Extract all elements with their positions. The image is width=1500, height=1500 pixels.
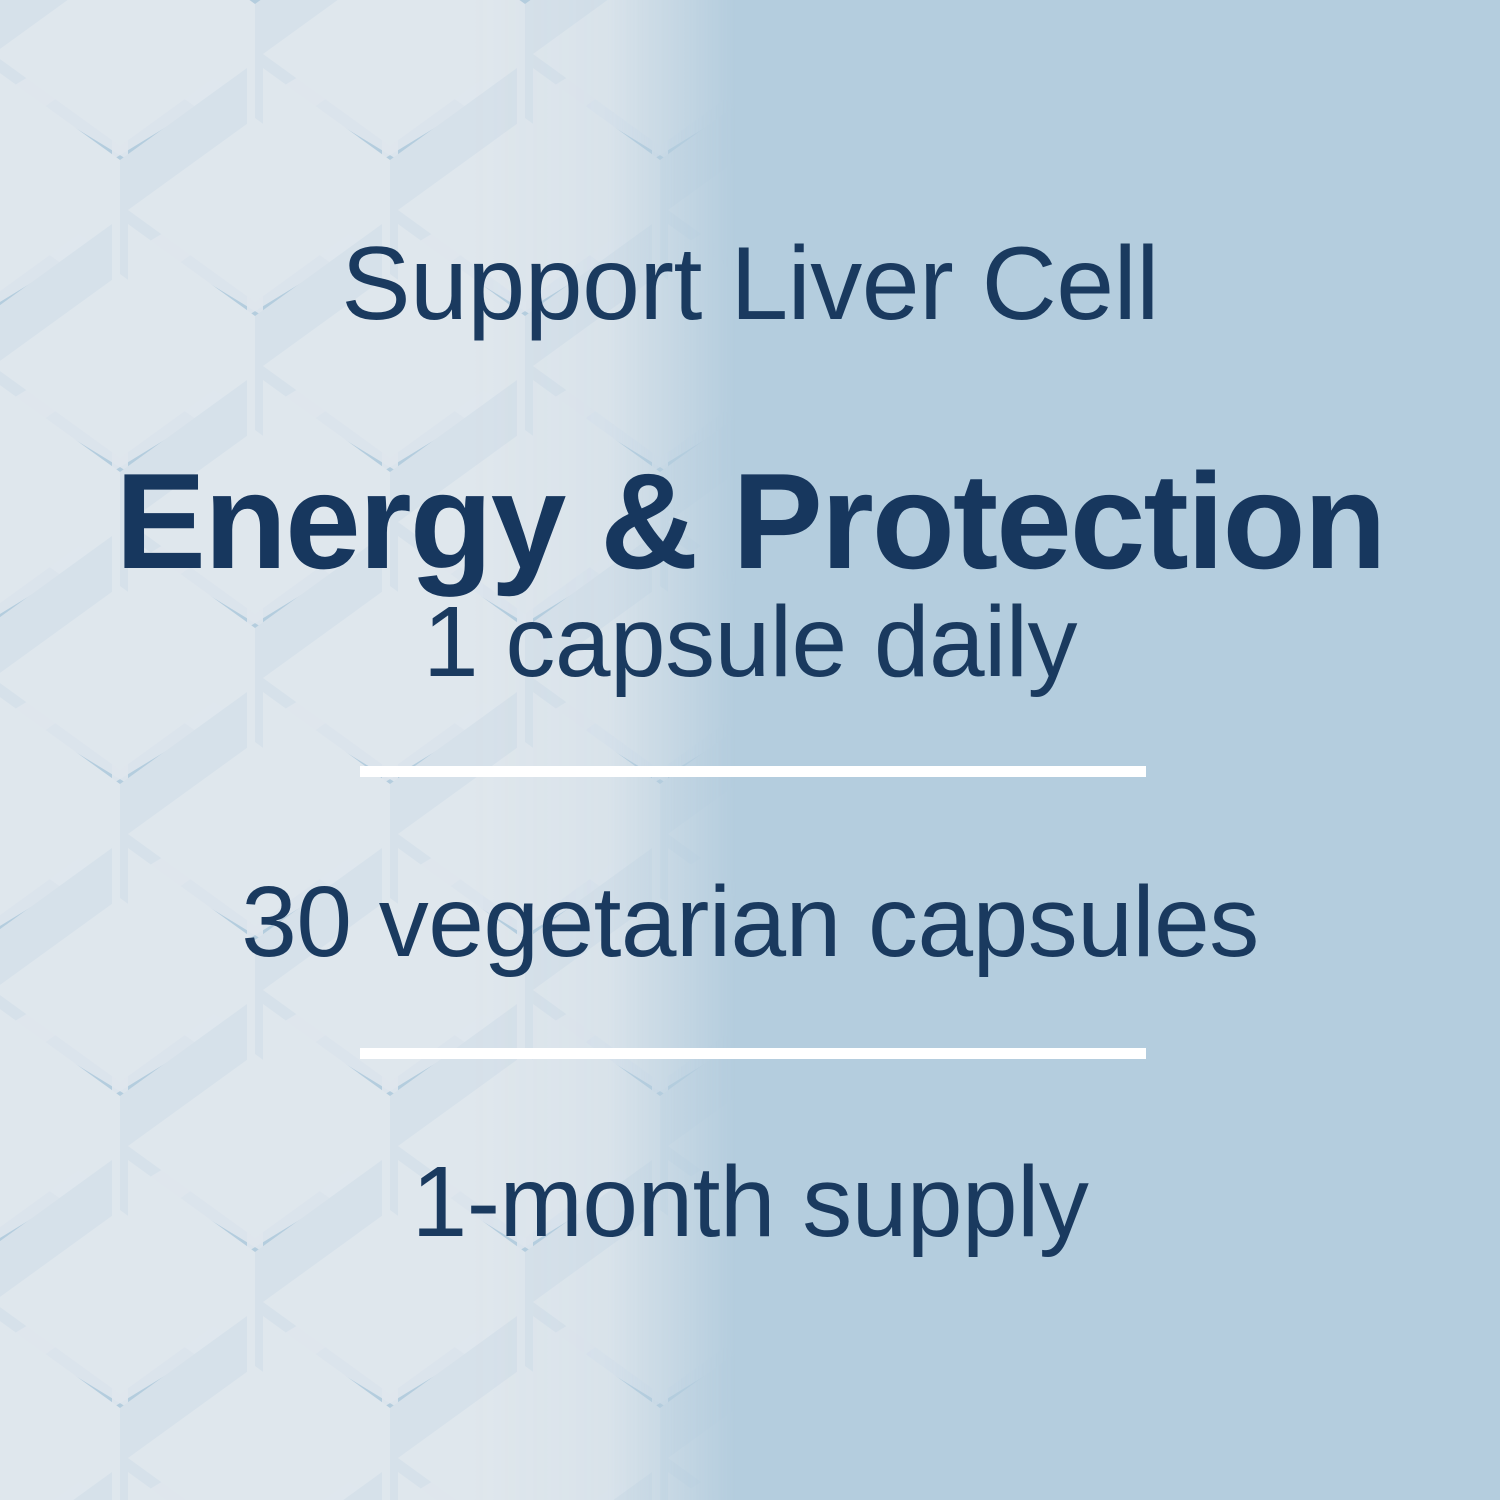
eyebrow-text: Support Liver Cell <box>0 232 1500 336</box>
fact-supply-duration: 1-month supply <box>0 1152 1500 1252</box>
fact-dosage: 1 capsule daily <box>0 592 1500 692</box>
text-content-block: Support Liver Cell Energy & Protection 1… <box>0 0 1500 1500</box>
page-title: Energy & Protection <box>0 453 1500 589</box>
divider-after-fact-1 <box>360 766 1146 777</box>
divider-after-fact-2 <box>360 1048 1146 1059</box>
fact-count: 30 vegetarian capsules <box>0 872 1500 972</box>
product-benefit-card: Support Liver Cell Energy & Protection 1… <box>0 0 1500 1500</box>
